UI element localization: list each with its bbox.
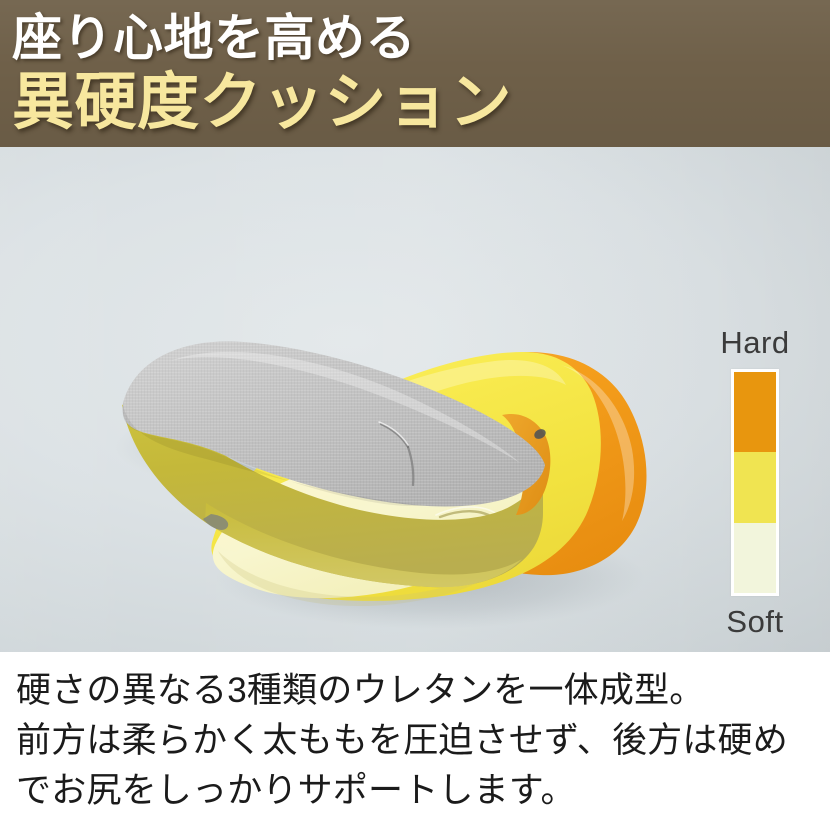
caption-line-2: 前方は柔らかく太ももを圧迫させず、後方は硬め: [16, 716, 814, 766]
header-banner: 座り心地を高める 異硬度クッション: [0, 0, 830, 147]
product-feature-panel: 座り心地を高める 異硬度クッション: [0, 0, 830, 830]
legend-color-bar: [731, 369, 779, 596]
product-photo-area: Hard Soft: [0, 147, 830, 652]
legend-label-soft: Soft: [700, 604, 810, 640]
hardness-legend: Hard Soft: [700, 325, 810, 640]
legend-swatch-soft: [734, 523, 776, 593]
legend-swatch-medium: [734, 452, 776, 523]
caption-line-1: 硬さの異なる3種類のウレタンを一体成型。: [16, 666, 814, 716]
caption-block: 硬さの異なる3種類のウレタンを一体成型。 前方は柔らかく太ももを圧迫させず、後方…: [0, 652, 830, 830]
legend-label-hard: Hard: [700, 325, 810, 361]
legend-swatch-hard: [734, 372, 776, 452]
caption-line-3: でお尻をしっかりサポートします。: [16, 766, 814, 816]
headline-primary: 座り心地を高める: [12, 9, 416, 67]
headline-secondary: 異硬度クッション: [12, 68, 512, 138]
